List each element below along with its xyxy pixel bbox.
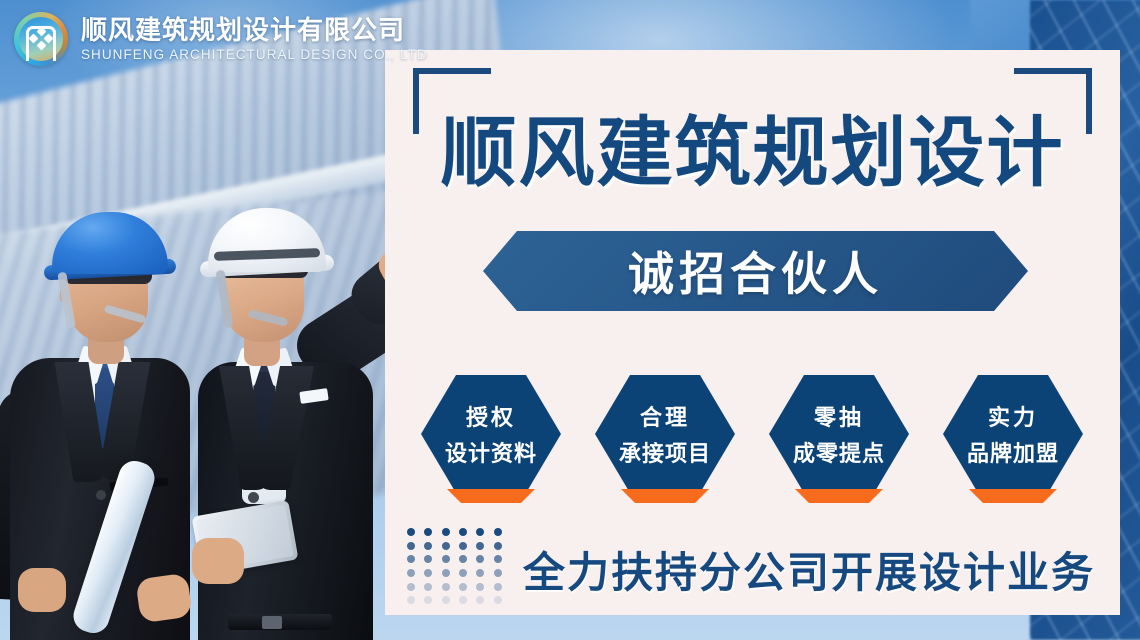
dot-grid-dot bbox=[494, 583, 502, 591]
dot-grid-dot bbox=[442, 583, 450, 591]
logo-inner-disc bbox=[19, 17, 63, 61]
dot-grid-dot bbox=[442, 528, 450, 536]
feature-hexagon-1-body: 授权 设计资料 bbox=[421, 375, 561, 493]
dot-grid-dot bbox=[494, 542, 502, 550]
dot-grid-dot bbox=[494, 555, 502, 563]
brand-header: 顺风建筑规划设计有限公司 SHUNFENG ARCHITECTURAL DESI… bbox=[14, 12, 428, 66]
dot-grid-dot bbox=[459, 569, 467, 577]
feature-4-line-1: 实力 bbox=[988, 400, 1038, 432]
feature-hexagon-4[interactable]: 实力 品牌加盟 bbox=[943, 375, 1083, 493]
dot-grid-dot bbox=[494, 569, 502, 577]
feature-hexagon-3-body: 零抽 成零提点 bbox=[769, 375, 909, 493]
dot-grid-dot bbox=[407, 569, 415, 577]
blue-hard-hat bbox=[52, 212, 168, 274]
dot-grid-dot bbox=[442, 569, 450, 577]
poster-canvas: 顺风建筑规划设计有限公司 SHUNFENG ARCHITECTURAL DESI… bbox=[0, 0, 1140, 640]
dot-grid-dot bbox=[476, 569, 484, 577]
company-name-cn: 顺风建筑规划设计有限公司 bbox=[81, 17, 428, 43]
dot-grid-dot bbox=[459, 555, 467, 563]
engineer-a-hand-left bbox=[18, 568, 66, 612]
engineer-b-belt-buckle bbox=[262, 616, 282, 629]
dot-grid-dot bbox=[424, 583, 432, 591]
feature-hexagon-3[interactable]: 零抽 成零提点 bbox=[769, 375, 909, 493]
feature-2-line-1: 合理 bbox=[640, 400, 690, 432]
dot-grid-dot bbox=[424, 569, 432, 577]
dot-grid-dot bbox=[476, 542, 484, 550]
dot-grid-dot bbox=[442, 542, 450, 550]
dot-grid-dot bbox=[424, 528, 432, 536]
content-panel: 顺风建筑规划设计 诚招合伙人 授权 设计资料 合理 承接项目 bbox=[385, 50, 1120, 615]
recruit-partner-ribbon: 诚招合伙人 bbox=[483, 231, 1028, 311]
dot-grid-dot bbox=[459, 528, 467, 536]
dot-grid-dot bbox=[407, 583, 415, 591]
bracket-tr-horizontal bbox=[1014, 68, 1092, 74]
engineer-b-hand-holding-tablet bbox=[192, 538, 244, 584]
feature-1-line-2: 设计资料 bbox=[445, 436, 537, 468]
arch-diamond-logo-icon bbox=[14, 12, 68, 66]
dot-grid-dot bbox=[407, 555, 415, 563]
dot-grid-dot bbox=[407, 542, 415, 550]
page-title: 顺风建筑规划设计 bbox=[385, 116, 1120, 192]
feature-3-orange-foot bbox=[789, 489, 889, 503]
bracket-tl-horizontal bbox=[413, 68, 491, 74]
feature-hexagon-2[interactable]: 合理 承接项目 bbox=[595, 375, 735, 493]
dot-grid-dot bbox=[407, 528, 415, 536]
feature-3-line-1: 零抽 bbox=[814, 400, 864, 432]
feature-hexagon-1[interactable]: 授权 设计资料 bbox=[421, 375, 561, 493]
feature-hexagon-list: 授权 设计资料 合理 承接项目 零抽 成零提点 bbox=[421, 375, 1083, 505]
feature-2-line-2: 承接项目 bbox=[619, 436, 711, 468]
feature-4-line-2: 品牌加盟 bbox=[967, 436, 1059, 468]
dot-grid-dot bbox=[459, 596, 467, 604]
dot-grid-dot bbox=[476, 528, 484, 536]
engineer-b-button bbox=[248, 492, 259, 503]
feature-1-orange-foot bbox=[441, 489, 541, 503]
feature-hexagon-2-body: 合理 承接项目 bbox=[595, 375, 735, 493]
dot-grid-dot bbox=[407, 596, 415, 604]
dot-grid-dot bbox=[459, 542, 467, 550]
dot-grid-dot bbox=[494, 596, 502, 604]
dot-grid-dot bbox=[424, 555, 432, 563]
dot-grid-dot bbox=[494, 528, 502, 536]
feature-2-orange-foot bbox=[615, 489, 715, 503]
brand-text-block: 顺风建筑规划设计有限公司 SHUNFENG ARCHITECTURAL DESI… bbox=[81, 17, 428, 62]
slogan-text: 全力扶持分公司开展设计业务 bbox=[523, 539, 1103, 600]
engineer-a-button-top bbox=[96, 490, 106, 500]
feature-3-line-2: 成零提点 bbox=[793, 436, 885, 468]
dot-grid-dot bbox=[442, 555, 450, 563]
dot-grid-dot bbox=[476, 583, 484, 591]
company-name-en: SHUNFENG ARCHITECTURAL DESIGN CO., LTD bbox=[81, 48, 428, 62]
ribbon-label: 诚招合伙人 bbox=[628, 238, 883, 304]
dot-grid-dot bbox=[476, 596, 484, 604]
dot-grid-dot bbox=[442, 596, 450, 604]
dot-grid-dot bbox=[424, 596, 432, 604]
feature-4-orange-foot bbox=[963, 489, 1063, 503]
logo-glyph bbox=[26, 26, 56, 52]
dot-grid-dot bbox=[476, 555, 484, 563]
white-hard-hat bbox=[208, 208, 326, 272]
dot-grid-dot bbox=[459, 583, 467, 591]
feature-1-line-1: 授权 bbox=[466, 400, 516, 432]
dot-grid-dot bbox=[424, 542, 432, 550]
decorative-dot-grid bbox=[407, 528, 511, 610]
feature-hexagon-4-body: 实力 品牌加盟 bbox=[943, 375, 1083, 493]
